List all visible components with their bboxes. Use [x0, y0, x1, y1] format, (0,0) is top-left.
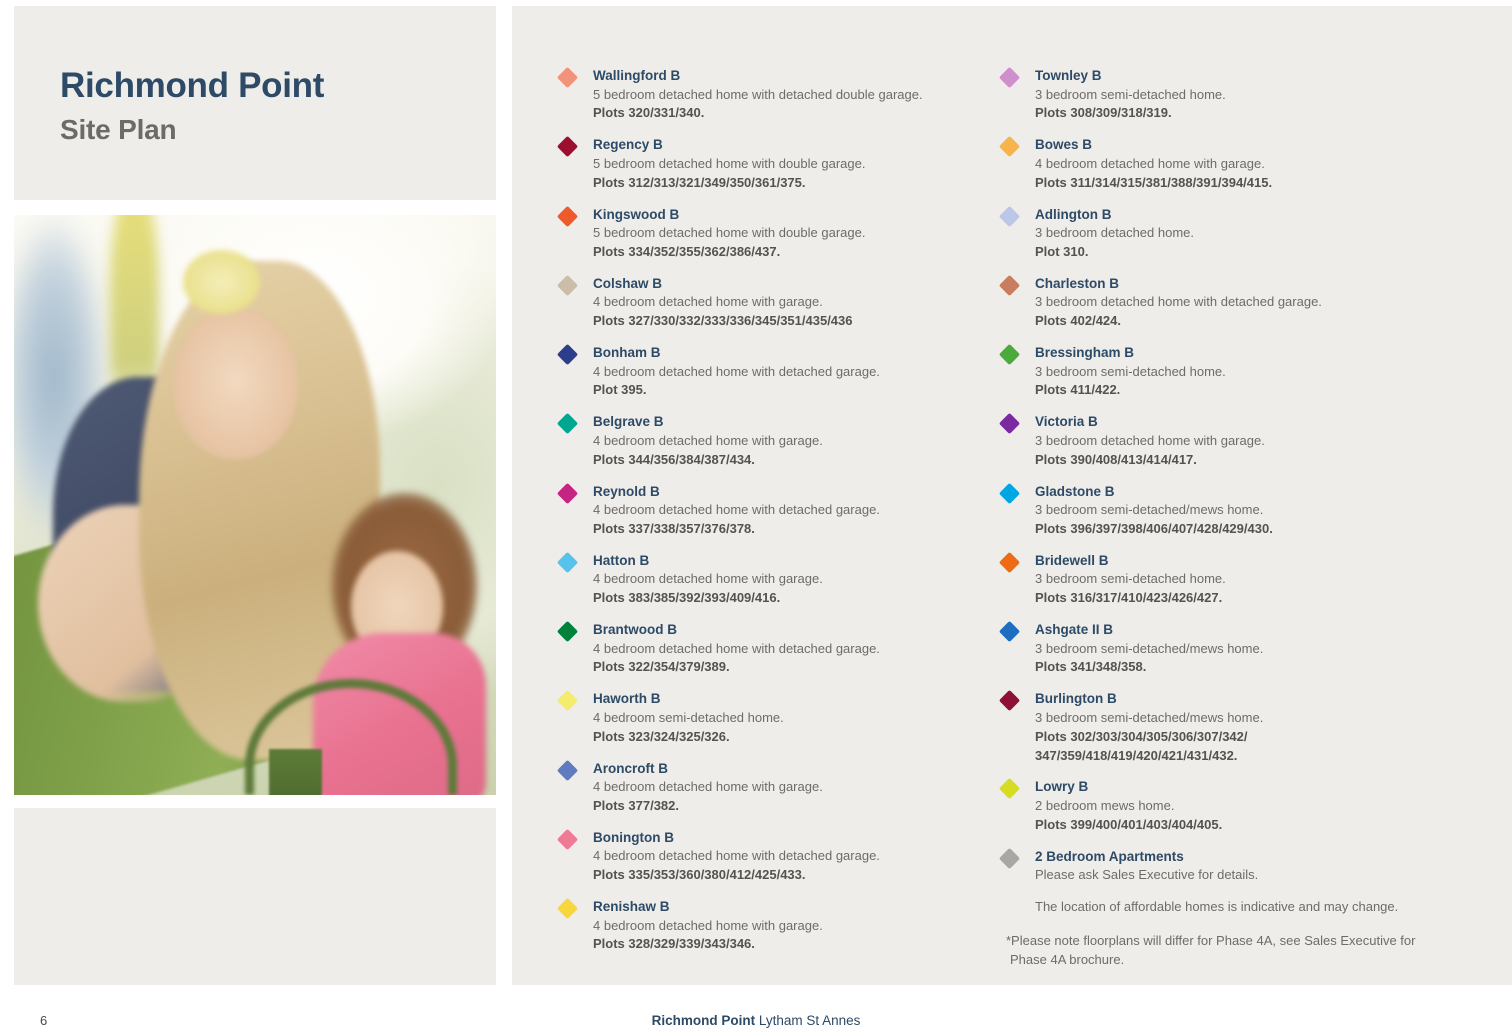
house-type-description: 4 bedroom semi-detached home. — [593, 709, 980, 728]
house-type-swatch-icon — [999, 67, 1020, 88]
house-type-plots: Plots 311/314/315/381/388/391/394/415. — [1035, 174, 1452, 193]
house-type-name: Reynold B — [593, 482, 980, 502]
house-type-description: 5 bedroom detached home with detached do… — [593, 86, 980, 105]
house-type-description: 4 bedroom detached home with garage. — [1035, 155, 1452, 174]
house-type-plots: Plots 344/356/384/387/434. — [593, 451, 980, 470]
legend-item[interactable]: Bressingham B3 bedroom semi-detached hom… — [1002, 343, 1452, 400]
house-type-swatch-icon — [557, 67, 578, 88]
house-type-swatch-icon — [557, 205, 578, 226]
phase-4a-footnote: *Please note floorplans will differ for … — [1002, 931, 1452, 970]
legend-item[interactable]: Charleston B3 bedroom detached home with… — [1002, 274, 1452, 331]
legend-panel: Wallingford B5 bedroom detached home wit… — [512, 6, 1512, 985]
legend-item[interactable]: Wallingford B5 bedroom detached home wit… — [560, 66, 980, 123]
legend-item[interactable]: Bridewell B3 bedroom semi-detached home.… — [1002, 551, 1452, 608]
house-type-swatch-icon — [999, 205, 1020, 226]
house-type-plots: Plots 399/400/401/403/404/405. — [1035, 816, 1452, 835]
legend-item[interactable]: Victoria B3 bedroom detached home with g… — [1002, 412, 1452, 469]
house-type-description: 3 bedroom semi-detached/mews home. — [1035, 640, 1452, 659]
photo-green-post — [269, 749, 322, 795]
house-type-name: Burlington B — [1035, 689, 1452, 709]
house-type-swatch-icon — [557, 136, 578, 157]
house-type-name: Wallingford B — [593, 66, 980, 86]
house-type-name: Colshaw B — [593, 274, 980, 294]
house-type-swatch-icon — [557, 482, 578, 503]
house-type-name: Belgrave B — [593, 412, 980, 432]
legend-item[interactable]: Aroncroft B4 bedroom detached home with … — [560, 759, 980, 816]
legend-item[interactable]: Bonington B4 bedroom detached home with … — [560, 828, 980, 885]
house-type-plots: Plots 302/303/304/305/306/307/342/ 347/3… — [1035, 728, 1452, 766]
house-type-name: Bressingham B — [1035, 343, 1452, 363]
house-type-plots: Plots 327/330/332/333/336/345/351/435/43… — [593, 312, 980, 331]
house-type-description: 3 bedroom semi-detached home. — [1035, 570, 1452, 589]
house-type-description: 4 bedroom detached home with garage. — [593, 570, 980, 589]
house-type-swatch-icon — [557, 344, 578, 365]
footer-brand: Richmond Point — [652, 1013, 756, 1028]
house-type-plots: Plots 308/309/318/319. — [1035, 104, 1452, 123]
house-type-plots: Plots 383/385/392/393/409/416. — [593, 589, 980, 608]
legend-item[interactable]: Regency B5 bedroom detached home with do… — [560, 135, 980, 192]
house-type-name: Townley B — [1035, 66, 1452, 86]
house-type-swatch-icon — [557, 759, 578, 780]
photo-hair-bow — [183, 250, 260, 314]
legend-item[interactable]: Townley B3 bedroom semi-detached home.Pl… — [1002, 66, 1452, 123]
title-card: Richmond Point Site Plan — [14, 6, 496, 200]
house-type-description: 5 bedroom detached home with double gara… — [593, 224, 980, 243]
house-type-description: 3 bedroom semi-detached home. — [1035, 86, 1452, 105]
house-type-name: Hatton B — [593, 551, 980, 571]
house-type-swatch-icon — [999, 778, 1020, 799]
hero-photo — [14, 215, 496, 795]
legend-item[interactable]: Renishaw B4 bedroom detached home with g… — [560, 897, 980, 954]
house-type-swatch-icon — [999, 847, 1020, 868]
legend-item[interactable]: Brantwood B4 bedroom detached home with … — [560, 620, 980, 677]
legend-item[interactable]: Adlington B3 bedroom detached home.Plot … — [1002, 205, 1452, 262]
house-type-swatch-icon — [999, 621, 1020, 642]
house-type-name: 2 Bedroom Apartments — [1035, 847, 1452, 867]
house-type-swatch-icon — [557, 898, 578, 919]
house-type-description: 4 bedroom detached home with garage. — [593, 778, 980, 797]
legend-item[interactable]: Lowry B2 bedroom mews home.Plots 399/400… — [1002, 777, 1452, 834]
house-type-plots: Plot 395. — [593, 381, 980, 400]
left-column: Richmond Point Site Plan — [0, 0, 498, 1000]
legend-item[interactable]: Bonham B4 bedroom detached home with det… — [560, 343, 980, 400]
house-type-name: Aroncroft B — [593, 759, 980, 779]
house-type-description: 3 bedroom semi-detached home. — [1035, 363, 1452, 382]
house-type-name: Charleston B — [1035, 274, 1452, 294]
house-type-name: Bowes B — [1035, 135, 1452, 155]
house-type-name: Brantwood B — [593, 620, 980, 640]
house-type-swatch-icon — [999, 552, 1020, 573]
legend-item[interactable]: 2 Bedroom ApartmentsPlease ask Sales Exe… — [1002, 847, 1452, 885]
house-type-name: Bonington B — [593, 828, 980, 848]
house-type-plots: Plot 310. — [1035, 243, 1452, 262]
house-type-description: 3 bedroom detached home with detached ga… — [1035, 293, 1452, 312]
photo-child-one-face — [173, 308, 298, 459]
house-type-description: 3 bedroom detached home. — [1035, 224, 1452, 243]
house-type-plots: Plots 341/348/358. — [1035, 658, 1452, 677]
house-type-plots: Plots 312/313/321/349/350/361/375. — [593, 174, 980, 193]
house-type-name: Renishaw B — [593, 897, 980, 917]
house-type-plots: Plots 316/317/410/423/426/427. — [1035, 589, 1452, 608]
house-type-swatch-icon — [557, 829, 578, 850]
house-type-name: Haworth B — [593, 689, 980, 709]
house-type-plots: Plots 334/352/355/362/386/437. — [593, 243, 980, 262]
house-type-plots: Plots 328/329/339/343/346. — [593, 935, 980, 954]
house-type-name: Ashgate II B — [1035, 620, 1452, 640]
house-type-swatch-icon — [999, 136, 1020, 157]
house-type-description: 4 bedroom detached home with detached ga… — [593, 363, 980, 382]
legend-item[interactable]: Reynold B4 bedroom detached home with de… — [560, 482, 980, 539]
house-type-description: 5 bedroom detached home with double gara… — [593, 155, 980, 174]
house-type-description: 3 bedroom semi-detached/mews home. — [1035, 709, 1452, 728]
house-type-swatch-icon — [999, 690, 1020, 711]
house-type-plots: Plots 335/353/360/380/412/425/433. — [593, 866, 980, 885]
legend-item[interactable]: Ashgate II B3 bedroom semi-detached/mews… — [1002, 620, 1452, 677]
house-type-description: 4 bedroom detached home with detached ga… — [593, 847, 980, 866]
house-type-plots: Plots 390/408/413/414/417. — [1035, 451, 1452, 470]
house-type-plots: Plots 320/331/340. — [593, 104, 980, 123]
brochure-page: Richmond Point Site Plan Wallingford B5 … — [0, 0, 1512, 1033]
legend-item[interactable]: Colshaw B4 bedroom detached home with ga… — [560, 274, 980, 331]
house-type-plots: Plots 377/382. — [593, 797, 980, 816]
legend-item[interactable]: Hatton B4 bedroom detached home with gar… — [560, 551, 980, 608]
affordable-homes-note: The location of affordable homes is indi… — [1002, 897, 1452, 917]
house-type-description: 3 bedroom semi-detached/mews home. — [1035, 501, 1452, 520]
house-type-plots: Plots 402/424. — [1035, 312, 1452, 331]
legend-item[interactable]: Belgrave B4 bedroom detached home with g… — [560, 412, 980, 469]
house-type-plots: Plots 411/422. — [1035, 381, 1452, 400]
house-type-name: Bridewell B — [1035, 551, 1452, 571]
house-type-swatch-icon — [557, 621, 578, 642]
legend-column-left: Wallingford B5 bedroom detached home wit… — [560, 66, 980, 966]
page-title: Richmond Point — [60, 66, 324, 106]
footer-location: Lytham St Annes — [759, 1013, 861, 1028]
house-type-plots: Plots 322/354/379/389. — [593, 658, 980, 677]
house-type-swatch-icon — [557, 275, 578, 296]
house-type-name: Bonham B — [593, 343, 980, 363]
house-type-description: Please ask Sales Executive for details. — [1035, 866, 1452, 885]
house-type-description: 2 bedroom mews home. — [1035, 797, 1452, 816]
house-type-description: 4 bedroom detached home with detached ga… — [593, 501, 980, 520]
house-type-swatch-icon — [999, 275, 1020, 296]
house-type-swatch-icon — [999, 413, 1020, 434]
legend-wrapper: Wallingford B5 bedroom detached home wit… — [512, 6, 1512, 985]
house-type-swatch-icon — [999, 344, 1020, 365]
legend-column-right: Townley B3 bedroom semi-detached home.Pl… — [1002, 66, 1452, 970]
house-type-swatch-icon — [557, 413, 578, 434]
house-type-description: 3 bedroom detached home with garage. — [1035, 432, 1452, 451]
house-type-plots: Plots 323/324/325/326. — [593, 728, 980, 747]
house-type-swatch-icon — [557, 690, 578, 711]
page-subtitle: Site Plan — [60, 114, 176, 146]
house-type-name: Gladstone B — [1035, 482, 1452, 502]
house-type-name: Victoria B — [1035, 412, 1452, 432]
house-type-description: 4 bedroom detached home with garage. — [593, 293, 980, 312]
footer-brand-line: Richmond Point Lytham St Annes — [0, 1013, 1512, 1028]
house-type-name: Lowry B — [1035, 777, 1452, 797]
lower-blank-panel — [14, 808, 496, 985]
house-type-name: Regency B — [593, 135, 980, 155]
legend-item[interactable]: Gladstone B3 bedroom semi-detached/mews … — [1002, 482, 1452, 539]
house-type-description: 4 bedroom detached home with detached ga… — [593, 640, 980, 659]
legend-item[interactable]: Haworth B4 bedroom semi-detached home.Pl… — [560, 689, 980, 746]
legend-item[interactable]: Bowes B4 bedroom detached home with gara… — [1002, 135, 1452, 192]
house-type-name: Adlington B — [1035, 205, 1452, 225]
house-type-swatch-icon — [557, 552, 578, 573]
house-type-swatch-icon — [999, 482, 1020, 503]
legend-item[interactable]: Burlington B3 bedroom semi-detached/mews… — [1002, 689, 1452, 765]
house-type-plots: Plots 396/397/398/406/407/428/429/430. — [1035, 520, 1452, 539]
house-type-description: 4 bedroom detached home with garage. — [593, 917, 980, 936]
house-type-description: 4 bedroom detached home with garage. — [593, 432, 980, 451]
house-type-plots: Plots 337/338/357/376/378. — [593, 520, 980, 539]
legend-item[interactable]: Kingswood B5 bedroom detached home with … — [560, 205, 980, 262]
house-type-name: Kingswood B — [593, 205, 980, 225]
